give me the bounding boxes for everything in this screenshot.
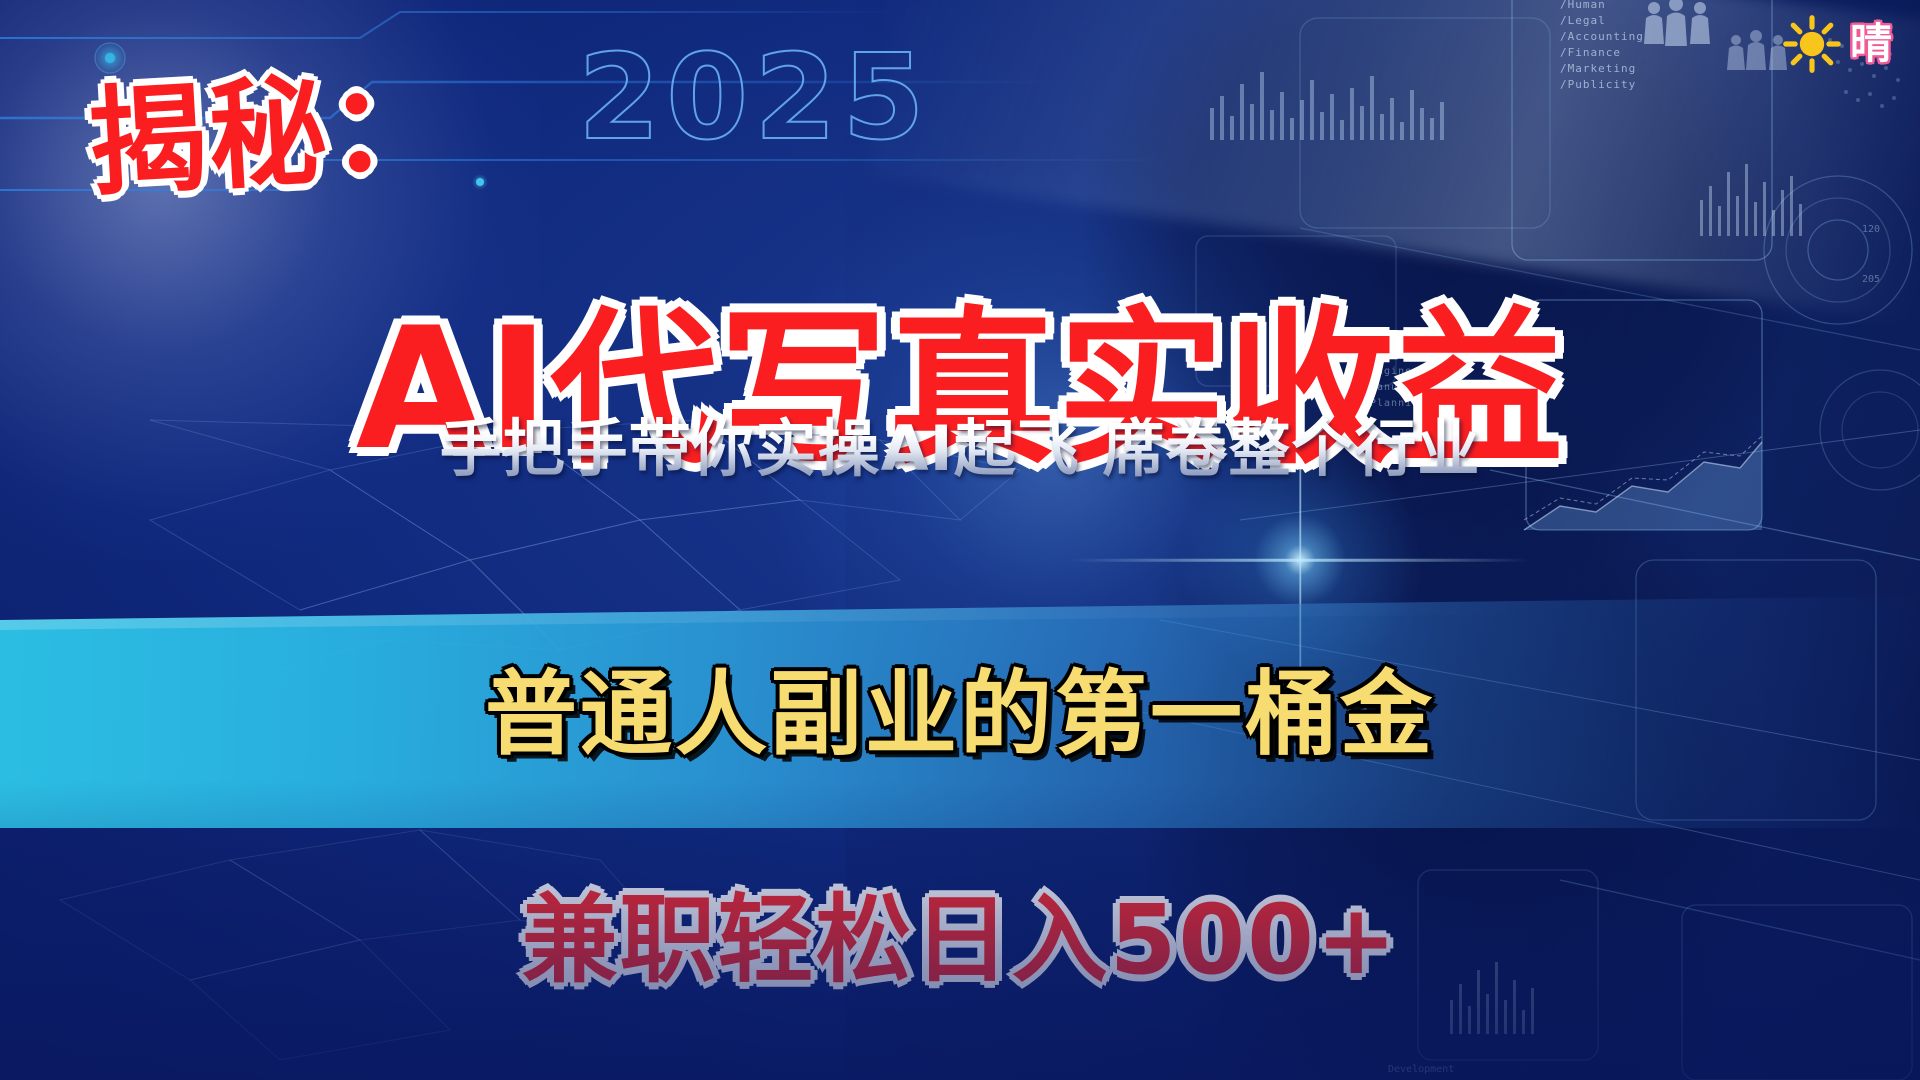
subtitle-text: 手把手带你实操AI起飞 席卷整个行业 [440, 398, 1481, 488]
bottom-callout-text: 兼职轻松日入500+ [522, 862, 1399, 1001]
band-headline-text: 普通人副业的第一桶金 [485, 640, 1435, 773]
kicker-text: 揭秘： [84, 28, 453, 219]
promo-poster: /Human /Legal /Accounting /Finance /Mark… [0, 0, 1920, 1080]
weather-label: 晴 [1850, 23, 1892, 65]
year-watermark: 2025 [578, 28, 930, 166]
sun-icon [1782, 14, 1842, 74]
weather-badge: 晴 [1782, 14, 1892, 74]
